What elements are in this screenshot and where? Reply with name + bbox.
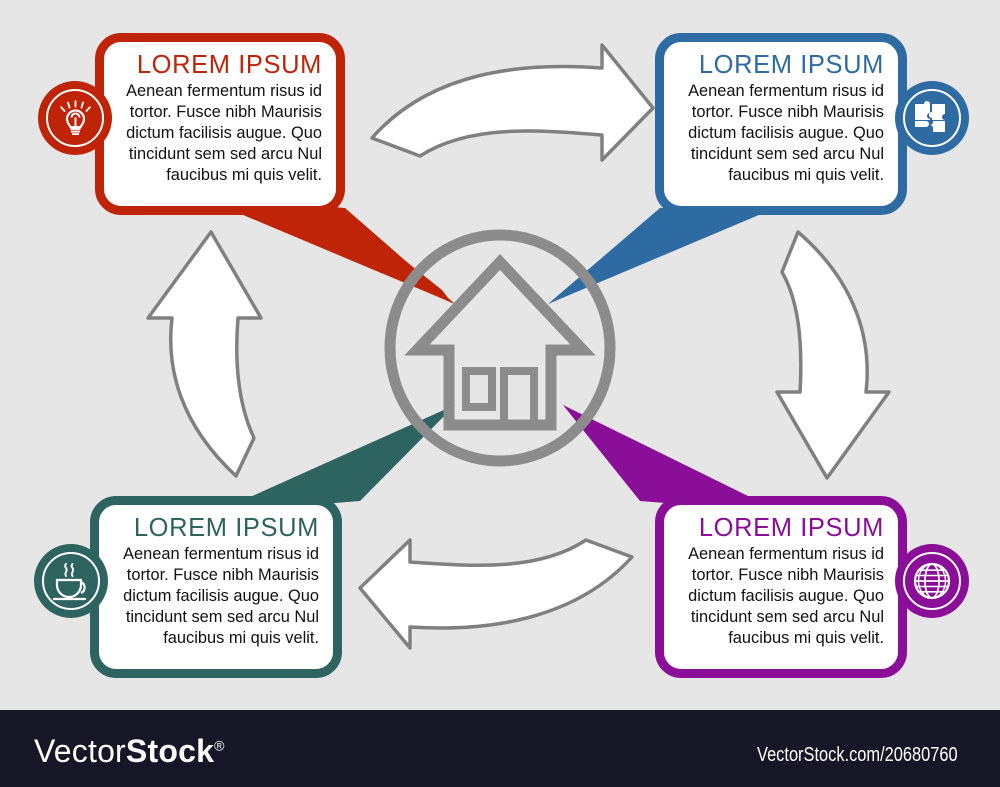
house-door	[504, 371, 534, 425]
center-house-group	[390, 235, 610, 461]
globe-icon[interactable]	[895, 544, 969, 618]
card-bottom-right-content: LOREM IPSUM Aenean fermentum risus id to…	[664, 505, 898, 669]
infographic-stage: LOREM IPSUM Aenean fermentum risus id to…	[0, 0, 1000, 787]
arrow-bottom-left-direction	[360, 540, 632, 648]
tail-bottom-right-a	[563, 405, 754, 510]
card-bottom-right-title: LOREM IPSUM	[678, 514, 884, 543]
card-top-left-body: Aenean fermentum risus id tortor. Fusce …	[118, 81, 322, 186]
tail-bottom-left-a	[246, 405, 455, 510]
infographic-canvas: LOREM IPSUM Aenean fermentum risus id to…	[0, 0, 1000, 710]
registered-trademark-icon: ®	[214, 737, 225, 753]
card-bottom-left-title: LOREM IPSUM	[113, 514, 319, 543]
card-top-right-title: LOREM IPSUM	[678, 51, 884, 80]
lightbulb-icon[interactable]	[38, 81, 112, 155]
card-bottom-left[interactable]: LOREM IPSUM Aenean fermentum risus id to…	[90, 496, 342, 678]
house-window	[466, 371, 492, 407]
globe-icon-glyph	[900, 549, 964, 613]
footer-url: VectorStock.com/20680760	[757, 744, 958, 767]
card-top-right-content: LOREM IPSUM Aenean fermentum risus id to…	[664, 42, 898, 206]
logo-text-vector: Vector	[34, 733, 126, 769]
card-bottom-right[interactable]: LOREM IPSUM Aenean fermentum risus id to…	[655, 496, 907, 678]
card-top-left[interactable]: LOREM IPSUM Aenean fermentum risus id to…	[95, 33, 345, 215]
lightbulb-icon-glyph	[43, 86, 107, 150]
arrow-right-down-direction	[777, 232, 889, 478]
card-bottom-right-body: Aenean fermentum risus id tortor. Fusce …	[678, 544, 884, 649]
arrow-top-right-direction	[372, 45, 653, 160]
arrow-left-up-direction	[148, 232, 261, 476]
puzzle-icon[interactable]	[895, 81, 969, 155]
card-top-right-body: Aenean fermentum risus id tortor. Fusce …	[678, 81, 884, 186]
card-bottom-left-content: LOREM IPSUM Aenean fermentum risus id to…	[99, 505, 333, 669]
card-top-left-content: LOREM IPSUM Aenean fermentum risus id to…	[104, 42, 336, 206]
card-top-left-title: LOREM IPSUM	[118, 51, 322, 80]
footer-bar: VectorStock® VectorStock.com/20680760	[0, 710, 1000, 787]
card-bottom-left-body: Aenean fermentum risus id tortor. Fusce …	[113, 544, 319, 649]
coffee-cup-icon[interactable]	[34, 544, 108, 618]
coffee-cup-icon-glyph	[39, 549, 103, 613]
card-top-right[interactable]: LOREM IPSUM Aenean fermentum risus id to…	[655, 33, 907, 215]
logo-text-stock: Stock	[126, 733, 214, 769]
vectorstock-logo: VectorStock®	[34, 733, 225, 770]
puzzle-icon-glyph	[900, 86, 964, 150]
